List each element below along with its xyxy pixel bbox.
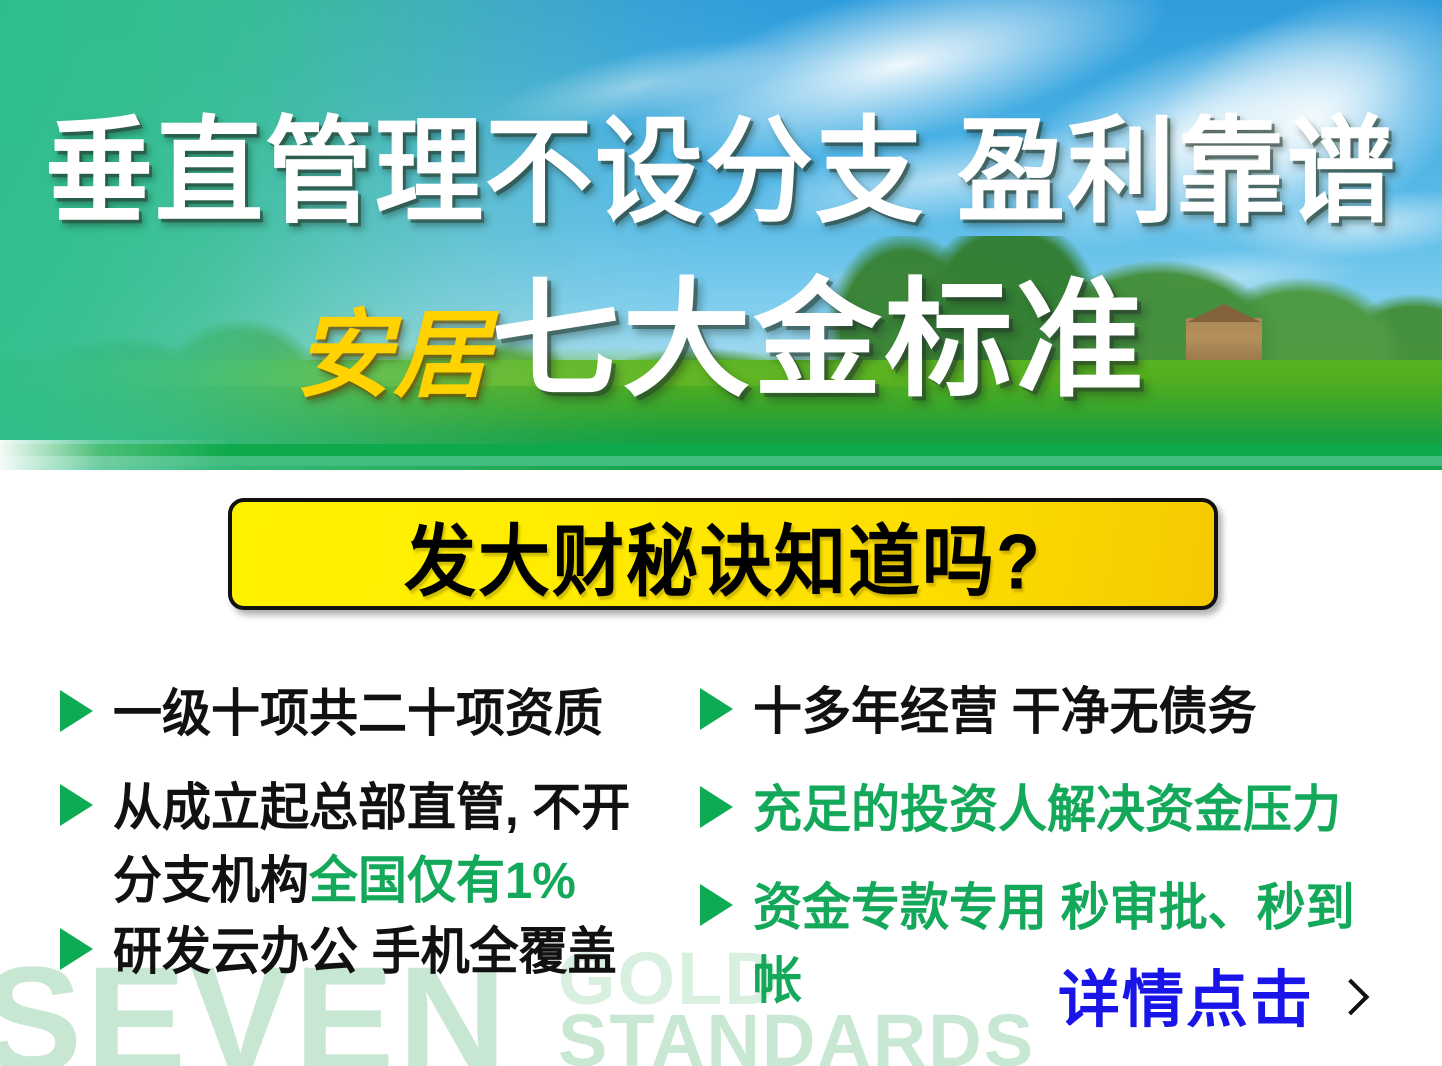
features-section: 一级十项共二十项资质 从成立起总部直管, 不开分支机构全国仅有1% 研发云办公 … <box>0 660 1442 1000</box>
hero-headline: 垂直管理不设分支 盈利靠谱 <box>0 112 1442 232</box>
details-cta-label: 详情点击 <box>1058 968 1314 1034</box>
hero-subheadline: 七大金标准 <box>491 269 1146 412</box>
triangle-right-icon <box>700 884 733 926</box>
triangle-right-icon <box>60 928 93 970</box>
feature-item: 十多年经营 干净无债务 <box>700 676 1257 746</box>
details-cta-button[interactable]: 详情点击 <box>1058 968 1362 1034</box>
advertisement-banner: 垂直管理不设分支 盈利靠谱 安居七大金标准 发大财秘诀知道吗? SEVEN GO… <box>0 0 1442 1066</box>
hero-band-light <box>0 456 1442 466</box>
chevron-right-icon <box>1336 978 1362 1024</box>
feature-label: 十多年经营 干净无债务 <box>753 676 1257 749</box>
hero-band-dark <box>0 444 1442 456</box>
triangle-right-icon <box>60 784 93 826</box>
hero-subheadline-row: 安居七大金标准 <box>0 278 1442 443</box>
feature-label-line1: 从成立起总部直管, 不开 <box>113 780 630 836</box>
feature-label-line2: 分支机构 <box>113 853 309 909</box>
feature-label: 从成立起总部直管, 不开分支机构全国仅有1% <box>113 772 630 918</box>
triangle-right-icon <box>700 786 733 828</box>
highlight-question-text: 发大财秘诀知道吗? <box>404 497 1042 610</box>
hero-brand-name: 安居 <box>295 302 491 409</box>
highlight-question-banner[interactable]: 发大财秘诀知道吗? <box>228 498 1218 610</box>
feature-highlight: 全国仅有1% <box>309 853 576 909</box>
feature-label: 一级十项共二十项资质 <box>113 678 603 751</box>
feature-item: 一级十项共二十项资质 <box>60 678 603 748</box>
triangle-right-icon <box>700 688 733 730</box>
feature-item: 充足的投资人解决资金压力 <box>700 774 1341 844</box>
hero-section: 垂直管理不设分支 盈利靠谱 安居七大金标准 <box>0 0 1442 470</box>
feature-label: 充足的投资人解决资金压力 <box>753 774 1341 847</box>
triangle-right-icon <box>60 690 93 732</box>
feature-label: 研发云办公 手机全覆盖 <box>113 916 617 989</box>
feature-item: 从成立起总部直管, 不开分支机构全国仅有1% <box>60 772 630 912</box>
feature-item: 研发云办公 手机全覆盖 <box>60 916 617 986</box>
